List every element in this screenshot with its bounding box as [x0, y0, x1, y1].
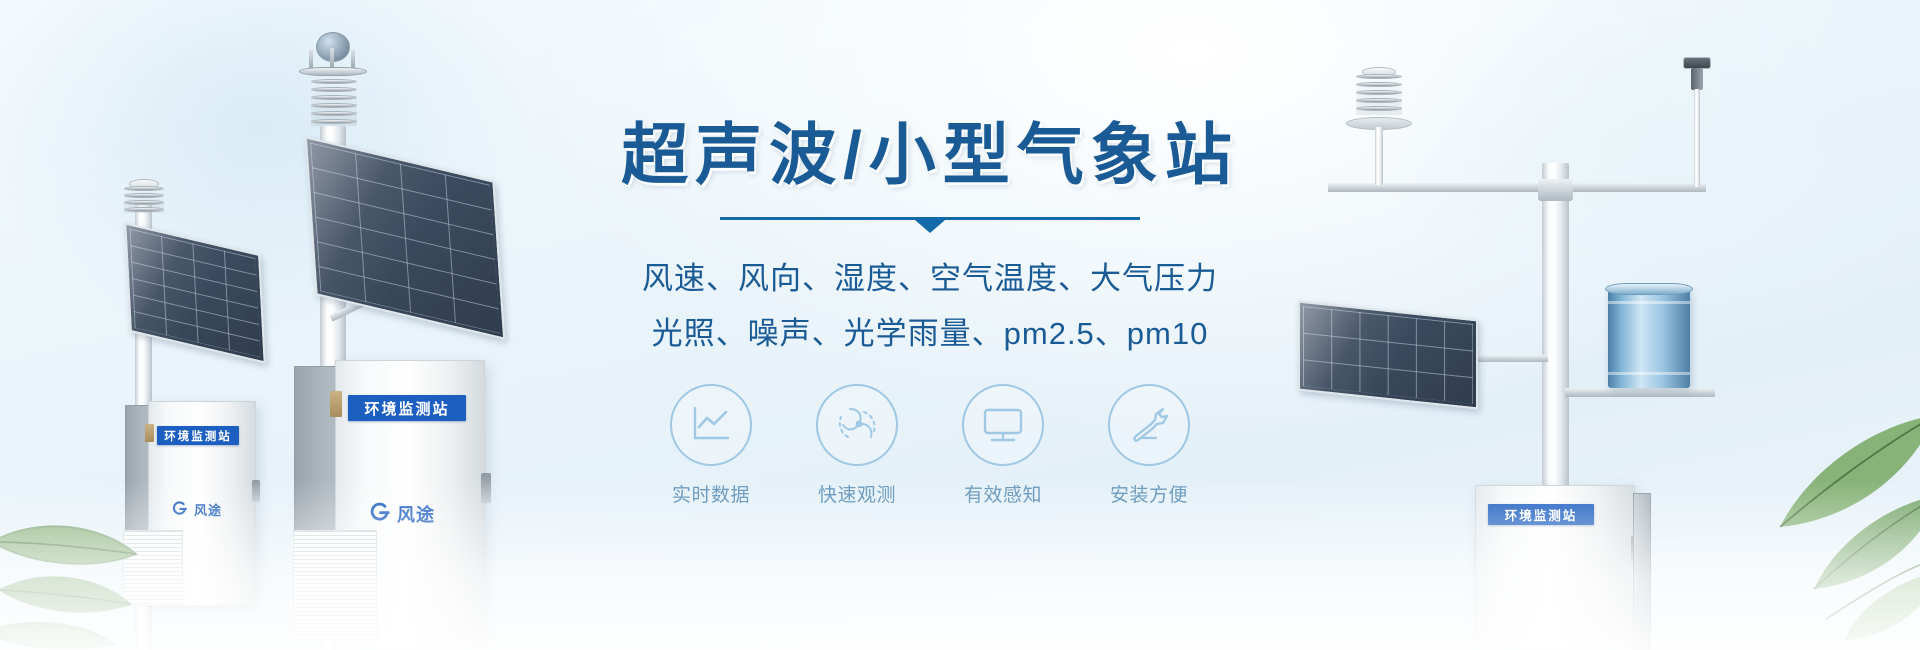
panel-brace: [1470, 355, 1548, 362]
monitor-icon: [981, 406, 1025, 444]
feature-ring: [670, 384, 752, 466]
subtitle-line-2: 光照、噪声、光学雨量、pm2.5、pm10: [560, 308, 1300, 359]
cabinet-brand: 风途: [368, 501, 435, 527]
cabinet-label: 环境监测站: [348, 395, 466, 421]
brand-mark-icon: [171, 501, 189, 518]
rain-gauge-bucket: [1608, 288, 1690, 388]
line-chart-icon: [690, 405, 732, 445]
wrench-icon: [1128, 405, 1170, 445]
feature-ring: [962, 384, 1044, 466]
shield-louver: [124, 186, 164, 191]
gauge-rim: [1605, 283, 1693, 295]
brand-name: 风途: [397, 501, 435, 527]
shield-louver: [124, 200, 164, 205]
gauge-shelf: [1565, 388, 1715, 397]
light-sensor: [1680, 57, 1714, 187]
cabinet-brand: 风途: [171, 500, 222, 519]
feature-caption: 有效感知: [948, 480, 1058, 507]
pole-collar: [1538, 179, 1573, 201]
page-title: 超声波/小型气象站: [560, 120, 1300, 191]
brand-mark-icon: [368, 502, 392, 526]
right-station: 环境监测站: [1320, 55, 1800, 650]
gauge-band: [1608, 301, 1690, 304]
solar-panel: [1298, 301, 1478, 410]
feature-item-easy-installation[interactable]: 安装方便: [1094, 384, 1204, 507]
shield-louver: [124, 193, 164, 198]
product-banner: 环境监测站 风途: [0, 0, 1920, 650]
feature-caption: 安装方便: [1094, 480, 1204, 507]
feature-list: 实时数据: [560, 384, 1300, 507]
cabinet-hinge: [330, 391, 342, 417]
shield-louver: [311, 119, 357, 124]
divider-caret-icon: [915, 220, 945, 233]
feature-ring: [816, 384, 898, 466]
light-sensor-body: [1691, 68, 1703, 90]
cabinet-handle: [252, 480, 260, 502]
anemometer-base: [299, 67, 367, 76]
cross-arm: [1328, 183, 1706, 192]
shield-louver: [124, 207, 164, 212]
cabinet-hinge: [145, 424, 154, 442]
cabinet-vent: [123, 530, 183, 606]
shield-louver: [1356, 106, 1402, 111]
shield-louver: [311, 79, 357, 84]
feature-caption: 实时数据: [656, 480, 766, 507]
feature-item-realtime-data[interactable]: 实时数据: [656, 384, 766, 507]
sensor-stem: [1375, 127, 1383, 185]
gauge-band: [1608, 372, 1690, 375]
cabinet-body: 环境监测站: [1475, 485, 1635, 650]
cabinet-label: 环境监测站: [157, 426, 239, 445]
banner-copy: 超声波/小型气象站 风速、风向、湿度、空气温度、大气压力 光照、噪声、光学雨量、…: [560, 120, 1300, 507]
radiation-shield-sensor: [1356, 73, 1402, 115]
subtitle-line-1: 风速、风向、湿度、空气温度、大气压力: [560, 253, 1300, 304]
panel-gloss: [1300, 303, 1476, 407]
radiation-shield-sensor: [124, 185, 164, 213]
shield-louver: [311, 87, 357, 92]
shield-louver: [1356, 74, 1402, 79]
shield-louver: [1356, 90, 1402, 95]
cabinet-handle: [481, 473, 491, 503]
radiation-shield-sensor: [311, 78, 357, 126]
brand-name: 风途: [194, 500, 222, 519]
feature-item-fast-observation[interactable]: 快速观测: [802, 384, 912, 507]
ultrasonic-anemometer: [299, 32, 367, 76]
feature-ring: [1108, 384, 1190, 466]
title-divider: [720, 217, 1140, 233]
light-sensor-stem: [1694, 89, 1700, 187]
cabinet-side: [1633, 493, 1651, 650]
shield-louver: [311, 103, 357, 108]
cabinet-label: 环境监测站: [1488, 504, 1594, 525]
shield-louver: [1356, 82, 1402, 87]
shield-louver: [1356, 98, 1402, 103]
feature-caption: 快速观测: [802, 480, 912, 507]
shield-louver: [311, 111, 357, 116]
radar-signal-icon: [835, 404, 879, 446]
left-large-station: 环境监测站 风途: [295, 30, 595, 650]
shield-louver: [311, 95, 357, 100]
feature-item-effective-sensing[interactable]: 有效感知: [948, 384, 1058, 507]
cabinet-vent: [293, 530, 377, 641]
